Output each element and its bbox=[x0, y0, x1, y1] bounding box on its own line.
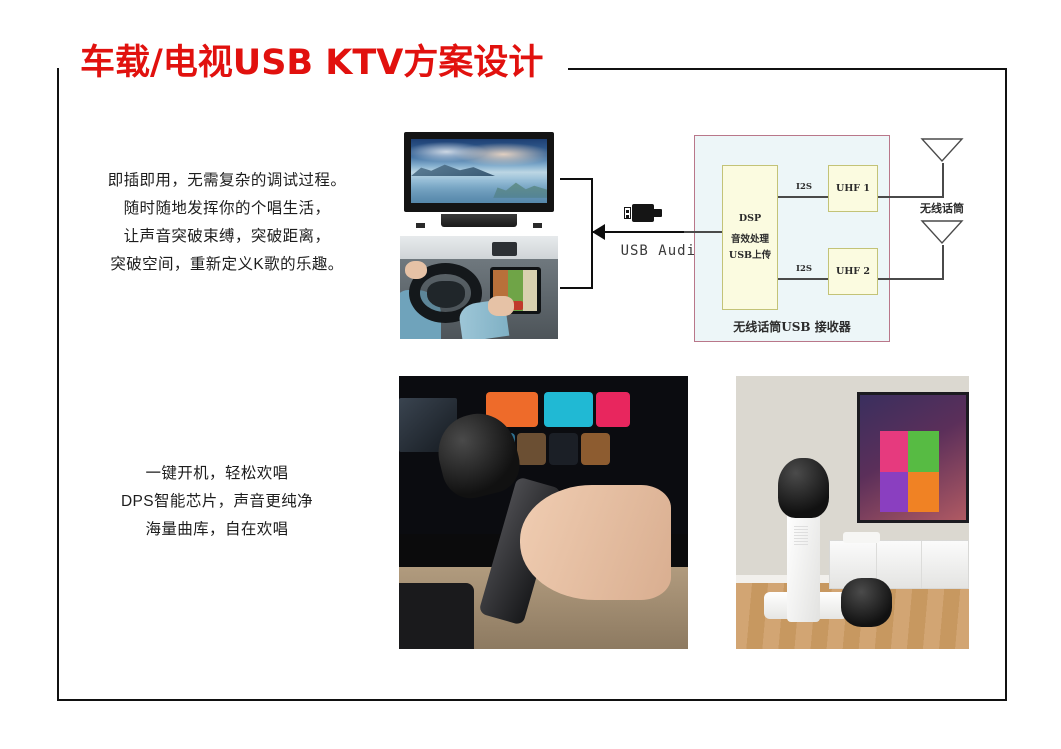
uhf2-label: UHF 2 bbox=[836, 264, 870, 280]
tv-screen-water bbox=[411, 181, 547, 203]
tv-stand bbox=[441, 214, 517, 227]
car-driver-hand-wheel bbox=[405, 261, 427, 280]
feature-text-block-bottom: 一键开机，轻松欢唱 DPS智能芯片，声音更纯净 海量曲库，自在欢唱 bbox=[62, 460, 372, 544]
connector-line-horizontal bbox=[593, 231, 691, 233]
microphone-2-foam-head bbox=[841, 578, 892, 627]
dsp-label-line3: USB上传 bbox=[729, 248, 771, 264]
frame-border-right bbox=[1005, 68, 1007, 701]
room-tv-tile-view bbox=[908, 472, 938, 513]
screen-tile-2 bbox=[544, 392, 593, 427]
wireless-mic-label: 无线话筒 bbox=[905, 200, 979, 216]
usb-plug-body bbox=[632, 204, 654, 222]
connector-line-car bbox=[560, 287, 593, 289]
car-windshield bbox=[400, 236, 558, 259]
connector-line-tv bbox=[560, 178, 593, 180]
wire-antenna2-riser bbox=[942, 245, 944, 279]
feature-text-block-top: 即插即用，无需复杂的调试过程。 随时随地发挥你的个唱生活， 让声音突破束缚，突破… bbox=[72, 167, 382, 279]
tv-screen bbox=[411, 139, 547, 203]
copy2-line-1: 一键开机，轻松欢唱 bbox=[62, 460, 372, 488]
wire-dsp-to-uhf1 bbox=[778, 196, 828, 198]
microphone-1-foam-head bbox=[778, 458, 829, 518]
screen-tile-3 bbox=[596, 392, 631, 427]
receiver-caption: 无线话筒USB 接收器 bbox=[694, 318, 890, 335]
tv-bezel bbox=[404, 132, 554, 212]
screen-tile-5 bbox=[517, 433, 546, 465]
room-tv-tile-music bbox=[880, 431, 908, 472]
usb-plug-contact-1 bbox=[626, 210, 629, 213]
antenna-icon-1 bbox=[920, 137, 964, 163]
usb-plug-contact-2 bbox=[626, 215, 629, 218]
dsp-block: DSP 音效处理 USB上传 bbox=[722, 165, 778, 310]
car-steering-hub bbox=[427, 281, 465, 308]
wire-uhf2-to-antenna bbox=[878, 278, 944, 280]
copy1-line-1: 即插即用，无需复杂的调试过程。 bbox=[72, 167, 382, 195]
screen-tile-7 bbox=[581, 433, 610, 465]
wire-antenna1-riser bbox=[942, 163, 944, 197]
room-tv-tile-chat bbox=[908, 431, 938, 472]
frame-border-left bbox=[57, 68, 59, 701]
tv-foot-left bbox=[416, 223, 425, 228]
arrow-left-icon bbox=[592, 224, 605, 240]
usb-plug-cable bbox=[653, 209, 662, 217]
copy2-line-3: 海量曲库，自在欢唱 bbox=[62, 516, 372, 544]
living-room-photo bbox=[736, 376, 969, 649]
antenna-icon-2 bbox=[920, 219, 964, 245]
uhf1-block: UHF 1 bbox=[828, 165, 878, 212]
car-dashboard-vent bbox=[399, 583, 474, 649]
room-remote-control bbox=[843, 532, 880, 543]
dsp-label-line2: 音效处理 bbox=[731, 232, 769, 248]
frame-border-bottom bbox=[57, 699, 1007, 701]
hand-holding-mic bbox=[520, 485, 670, 600]
wire-dsp-to-uhf2 bbox=[778, 278, 828, 280]
tv-screen-mountains bbox=[411, 162, 495, 176]
car-dashcam bbox=[492, 242, 517, 255]
page-title: 车载/电视USB KTV方案设计 bbox=[80, 44, 543, 83]
mic-in-car-photo bbox=[399, 376, 688, 649]
wire-usb-to-dsp bbox=[684, 231, 724, 233]
i2s-label-2: I2S bbox=[796, 264, 812, 274]
uhf1-label: UHF 1 bbox=[836, 181, 870, 197]
car-driver-hand bbox=[488, 296, 513, 317]
i2s-label-1: I2S bbox=[796, 182, 812, 192]
copy1-line-2: 随时随地发挥你的个唱生活， bbox=[72, 195, 382, 223]
copy1-line-3: 让声音突破束缚，突破距离， bbox=[72, 223, 382, 251]
tv-foot-right bbox=[533, 223, 542, 228]
screen-tile-6 bbox=[549, 433, 578, 465]
room-tv-tile-send bbox=[880, 472, 908, 513]
uhf2-block: UHF 2 bbox=[828, 248, 878, 295]
copy1-line-4: 突破空间，重新定义K歌的乐趣。 bbox=[72, 251, 382, 279]
microphone-1-buttons bbox=[794, 526, 808, 545]
dsp-label-line1: DSP bbox=[739, 211, 761, 227]
tv-photo bbox=[400, 128, 558, 228]
car-interior-photo bbox=[400, 236, 558, 339]
copy2-line-2: DPS智能芯片，声音更纯净 bbox=[62, 488, 372, 516]
frame-border-top bbox=[568, 68, 1007, 70]
cabinet-divider-2 bbox=[921, 541, 922, 588]
wire-uhf1-to-antenna bbox=[878, 196, 944, 198]
usb-plug-icon bbox=[624, 202, 662, 224]
slide-root: 车载/电视USB KTV方案设计 即插即用，无需复杂的调试过程。 随时随地发挥你… bbox=[0, 0, 1061, 749]
